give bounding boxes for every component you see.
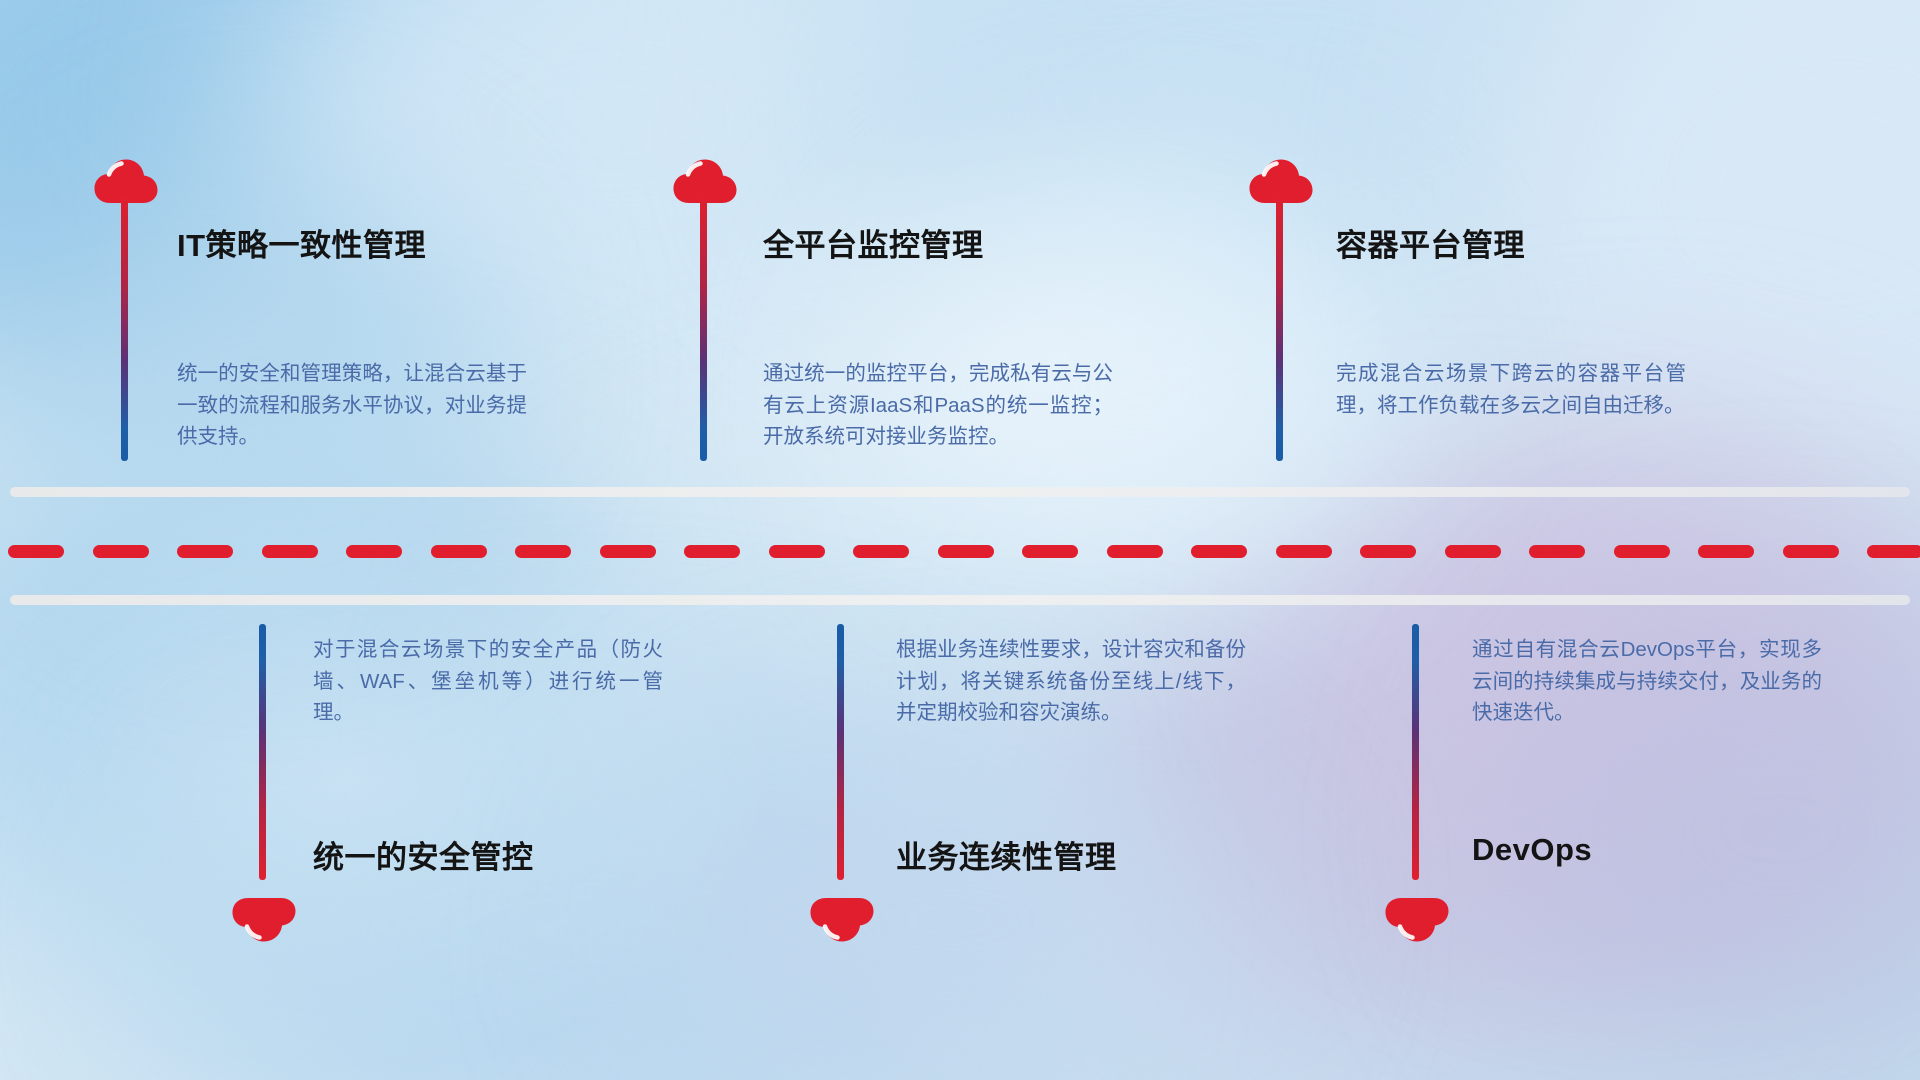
dash-segment (853, 545, 909, 558)
card-body-it-policy-consistency: 统一的安全和管理策略，让混合云基于一致的流程和服务水平协议，对业务提供支持。 (177, 358, 527, 453)
card-title-business-continuity: 业务连续性管理 (896, 832, 1117, 877)
dashed-center-line (0, 545, 1920, 558)
dash-segment (262, 545, 318, 558)
dash-segment (1783, 545, 1839, 558)
dash-segment (938, 545, 994, 558)
dash-segment (1867, 545, 1920, 558)
rail-line-top (10, 487, 1910, 497)
dash-segment (346, 545, 402, 558)
dash-segment (600, 545, 656, 558)
dash-segment (1276, 545, 1332, 558)
card-title-container-platform: 容器平台管理 (1336, 220, 1525, 265)
connector-stem (837, 624, 844, 880)
infographic-canvas: IT策略一致性管理 统一的安全和管理策略，让混合云基于一致的流程和服务水平协议，… (0, 0, 1920, 1080)
connector-stem (121, 196, 128, 461)
card-title-it-policy-consistency: IT策略一致性管理 (177, 220, 426, 265)
card-title-full-platform-monitoring: 全平台监控管理 (763, 220, 984, 265)
dash-segment (431, 545, 487, 558)
dash-segment (177, 545, 233, 558)
dash-segment (1107, 545, 1163, 558)
connector-stem (1412, 624, 1419, 880)
dash-segment (769, 545, 825, 558)
card-title-unified-security: 统一的安全管控 (313, 832, 534, 877)
dash-segment (684, 545, 740, 558)
card-title-devops: DevOps (1472, 832, 1592, 868)
card-body-devops: 通过自有混合云DevOps平台，实现多云间的持续集成与持续交付，及业务的快速迭代… (1472, 634, 1822, 729)
dash-segment (1529, 545, 1585, 558)
card-body-full-platform-monitoring: 通过统一的监控平台，完成私有云与公有云上资源IaaS和PaaS的统一监控；开放系… (763, 358, 1113, 453)
dash-segment (1360, 545, 1416, 558)
card-body-business-continuity: 根据业务连续性要求，设计容灾和备份计划，将关键系统备份至线上/线下，并定期校验和… (896, 634, 1246, 729)
dash-segment (93, 545, 149, 558)
dash-segment (1445, 545, 1501, 558)
dash-segment (1614, 545, 1670, 558)
card-body-unified-security: 对于混合云场景下的安全产品（防火墙、WAF、堡垒机等）进行统一管理。 (313, 634, 663, 729)
cloud-icon-flipped (231, 896, 297, 944)
dash-segment (515, 545, 571, 558)
connector-stem (700, 196, 707, 461)
dash-segment (1022, 545, 1078, 558)
cloud-icon-flipped (809, 896, 875, 944)
dash-segment (1698, 545, 1754, 558)
connector-stem (259, 624, 266, 880)
dash-segment (8, 545, 64, 558)
card-body-container-platform: 完成混合云场景下跨云的容器平台管理，将工作负载在多云之间自由迁移。 (1336, 358, 1686, 421)
rail-line-bottom (10, 595, 1910, 605)
cloud-icon-flipped (1384, 896, 1450, 944)
dash-segment (1191, 545, 1247, 558)
connector-stem (1276, 196, 1283, 461)
